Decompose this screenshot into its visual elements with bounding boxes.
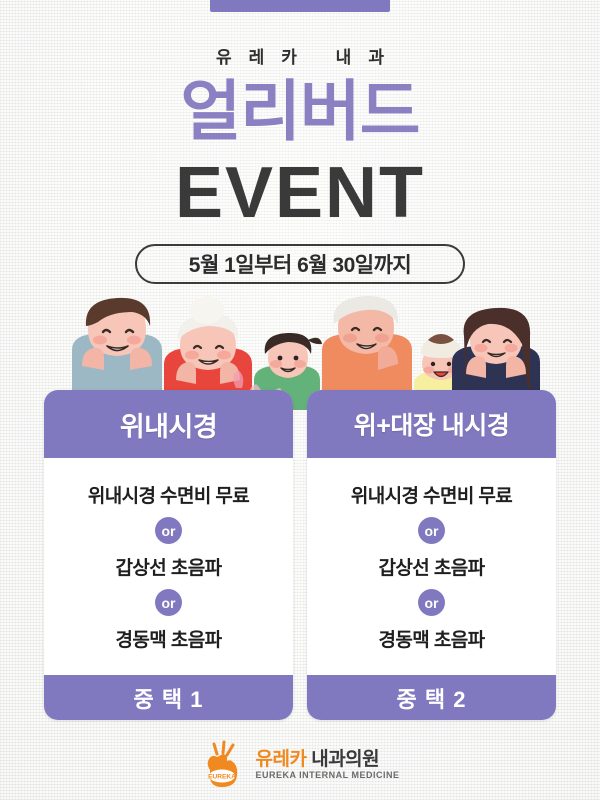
package-card-gastro[interactable]: 위내시경 위내시경 수면비 무료 or 갑상선 초음파 or 경동맥 초음파 중… — [44, 390, 293, 720]
option-3-combined: 경동맥 초음파 — [379, 625, 485, 652]
option-1-combined: 위내시경 수면비 무료 — [351, 481, 512, 508]
card-footer-label-gastro: 중 택 1 — [134, 682, 204, 714]
top-accent-bar — [210, 0, 390, 12]
logo-name-korean: 유레카 내과의원 — [255, 750, 399, 769]
package-card-combined[interactable]: 위+대장 내시경 위내시경 수면비 무료 or 갑상선 초음파 or 경동맥 초… — [307, 390, 556, 720]
option-2-combined: 갑상선 초음파 — [379, 553, 485, 580]
card-header-gastro: 위내시경 — [44, 390, 293, 458]
option-1-gastro: 위내시경 수면비 무료 — [88, 481, 249, 508]
brand-title: 얼리버드 — [0, 78, 600, 144]
card-body-gastro: 위내시경 수면비 무료 or 갑상선 초음파 or 경동맥 초음파 — [44, 458, 293, 675]
date-range-pill: 5월 1일부터 6월 30일까지 — [135, 244, 465, 284]
or-badge: or — [418, 589, 445, 616]
card-footer-combined: 중 택 2 — [307, 675, 556, 720]
clinic-name: 유레카 내과 — [0, 43, 600, 68]
event-title: EVENT — [0, 157, 600, 229]
footer-logo: EUREKA 유레카 내과의원 EUREKA INTERNAL MEDICINE — [0, 738, 600, 792]
card-title-combined: 위+대장 내시경 — [354, 406, 510, 442]
eureka-hand-icon: EUREKA — [200, 740, 246, 790]
logo-name-accent: 유레카 — [255, 749, 306, 770]
card-title-gastro: 위내시경 — [120, 405, 217, 444]
card-header-combined: 위+대장 내시경 — [307, 390, 556, 458]
logo-name-rest: 내과의원 — [306, 749, 379, 770]
logo-text-block: 유레카 내과의원 EUREKA INTERNAL MEDICINE — [255, 750, 399, 780]
logo-mark-text: EUREKA — [209, 774, 237, 781]
card-footer-gastro: 중 택 1 — [44, 675, 293, 720]
logo-name-english: EUREKA INTERNAL MEDICINE — [255, 771, 399, 780]
option-2-gastro: 갑상선 초음파 — [116, 553, 222, 580]
or-badge: or — [155, 517, 182, 544]
date-range-label: 5월 1일부터 6월 30일까지 — [189, 249, 411, 279]
card-body-combined: 위내시경 수면비 무료 or 갑상선 초음파 or 경동맥 초음파 — [307, 458, 556, 675]
or-badge: or — [155, 589, 182, 616]
option-3-gastro: 경동맥 초음파 — [116, 625, 222, 652]
card-footer-label-combined: 중 택 2 — [397, 682, 467, 714]
or-badge: or — [418, 517, 445, 544]
